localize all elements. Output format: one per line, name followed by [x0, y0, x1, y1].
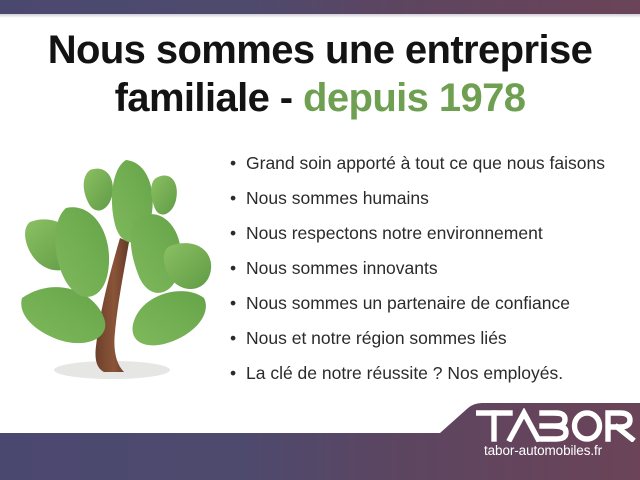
tree-icon	[8, 150, 218, 390]
list-item-label: Nous sommes humains	[246, 188, 429, 208]
list-item-label: Nous sommes innovants	[246, 258, 438, 278]
headline-accent-year: depuis 1978	[303, 76, 525, 120]
top-accent-bar-shadow	[0, 14, 640, 18]
list-item-label: Nous respectons notre environnement	[246, 223, 543, 243]
list-item: • Nous sommes un partenaire de confiance	[228, 290, 632, 325]
bullet-marker: •	[230, 150, 236, 176]
tabor-wordmark-icon	[476, 408, 636, 442]
list-item: • La clé de notre réussite ? Nos employé…	[228, 360, 632, 395]
leaf-top-left	[84, 169, 113, 211]
headline-line-1: Nous sommes une entreprise	[0, 26, 640, 74]
list-item: • Nous et notre région sommes liés	[228, 325, 632, 360]
leaf-top-right	[151, 175, 177, 214]
slide-canvas: Nous sommes une entreprise familiale - d…	[0, 0, 640, 480]
bullet-marker: •	[230, 290, 236, 316]
list-item: • Nous sommes innovants	[228, 255, 632, 290]
list-item: • Nous sommes humains	[228, 185, 632, 220]
bullet-marker: •	[230, 185, 236, 211]
list-item-label: La clé de notre réussite ? Nos employés.	[246, 363, 563, 383]
list-item-label: Grand soin apporté à tout ce que nous fa…	[246, 153, 605, 173]
list-item: • Grand soin apporté à tout ce que nous …	[228, 150, 632, 185]
top-accent-bar	[0, 0, 640, 14]
bullet-marker: •	[230, 325, 236, 351]
headline-line-2-main: familiale -	[115, 76, 303, 120]
leaf-right-low	[132, 291, 205, 345]
page-title: Nous sommes une entreprise familiale - d…	[0, 26, 640, 122]
list-item-label: Nous sommes un partenaire de confiance	[246, 293, 570, 313]
bullet-marker: •	[230, 220, 236, 246]
list-item-label: Nous et notre région sommes liés	[246, 328, 507, 348]
bullet-marker: •	[230, 360, 236, 386]
headline-line-2: familiale - depuis 1978	[0, 74, 640, 122]
leaf-inner-left	[55, 207, 109, 297]
logo-tagline: tabor-automobiles.fr	[484, 443, 640, 458]
benefits-list: • Grand soin apporté à tout ce que nous …	[228, 150, 632, 395]
list-item: • Nous respectons notre environnement	[228, 220, 632, 255]
bullet-marker: •	[230, 255, 236, 281]
brand-logo: tabor-automobiles.fr	[476, 408, 640, 458]
